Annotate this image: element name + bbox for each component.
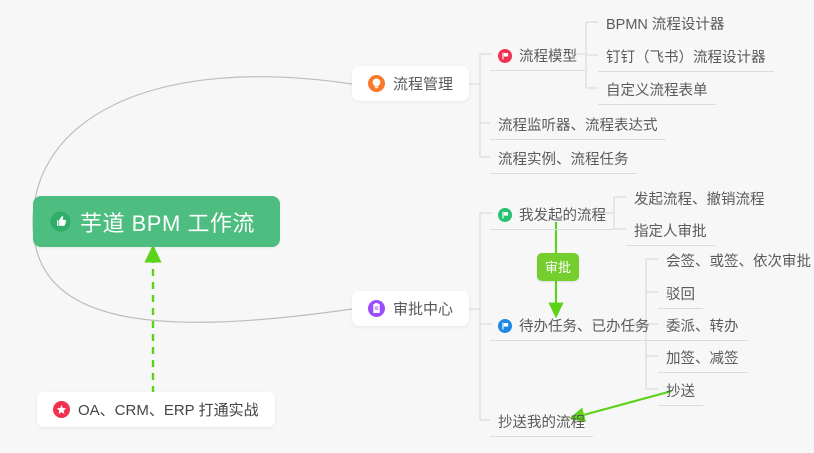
- node-todo-done-tasks[interactable]: 待办任务、已办任务: [490, 313, 658, 341]
- mindmap-canvas: 芋道 BPM 工作流 流程管理 流程模型 BPMN 流程设计器 钉钉（飞书）流程…: [0, 0, 814, 453]
- node-liuchengmoxing[interactable]: 流程模型: [490, 43, 585, 71]
- node-label: 我发起的流程: [519, 204, 606, 225]
- node-label: 流程监听器、流程表达式: [498, 114, 658, 135]
- flag-icon: [498, 319, 512, 333]
- node-label: 委派、转办: [666, 315, 739, 336]
- node-assignee-approval[interactable]: 指定人审批: [626, 218, 715, 246]
- root-node[interactable]: 芋道 BPM 工作流: [33, 196, 280, 247]
- node-label: 抄送: [666, 380, 695, 401]
- flag-icon: [498, 208, 512, 222]
- branch-label: 流程管理: [393, 73, 453, 94]
- branch-label: 审批中心: [393, 298, 453, 319]
- callout-label: OA、CRM、ERP 打通实战: [78, 399, 259, 420]
- branch-node-shenpizhongxin[interactable]: 审批中心: [352, 291, 469, 326]
- clipboard-icon: [368, 300, 385, 317]
- node-bpmn-designer[interactable]: BPMN 流程设计器: [598, 11, 732, 38]
- node-label: 指定人审批: [634, 220, 707, 241]
- node-label: 发起流程、撤销流程: [634, 188, 765, 209]
- node-instance-task[interactable]: 流程实例、流程任务: [490, 146, 637, 174]
- node-label: 流程实例、流程任务: [498, 148, 629, 169]
- node-dingding-designer[interactable]: 钉钉（飞书）流程设计器: [598, 44, 774, 72]
- callout-node-oa-crm-erp[interactable]: OA、CRM、ERP 打通实战: [37, 392, 275, 427]
- node-custom-form[interactable]: 自定义流程表单: [598, 77, 716, 105]
- node-label: 驳回: [666, 283, 695, 304]
- thumbs-up-icon: [50, 211, 71, 232]
- branch-node-liuchengguanli[interactable]: 流程管理: [352, 66, 469, 101]
- node-label: 会签、或签、依次审批: [666, 250, 811, 271]
- node-my-started-processes[interactable]: 我发起的流程: [490, 202, 614, 230]
- star-icon: [53, 401, 70, 418]
- node-label: 流程模型: [519, 45, 577, 66]
- root-label: 芋道 BPM 工作流: [80, 206, 255, 238]
- node-label: 加签、减签: [666, 347, 739, 368]
- node-reject[interactable]: 驳回: [658, 281, 703, 309]
- node-label: 自定义流程表单: [606, 79, 708, 100]
- flow-label-text: 审批: [545, 260, 571, 275]
- flow-label-shenpi: 审批: [537, 253, 579, 281]
- node-cc[interactable]: 抄送: [658, 378, 703, 406]
- node-cc-to-me-processes[interactable]: 抄送我的流程: [490, 409, 593, 437]
- node-label: 钉钉（飞书）流程设计器: [606, 46, 766, 67]
- node-countersign-modes[interactable]: 会签、或签、依次审批: [658, 248, 814, 275]
- node-label: 待办任务、已办任务: [519, 315, 650, 336]
- node-label: BPMN 流程设计器: [606, 13, 724, 34]
- node-listener-expression[interactable]: 流程监听器、流程表达式: [490, 112, 666, 140]
- node-start-cancel-process[interactable]: 发起流程、撤销流程: [626, 186, 773, 213]
- node-label: 抄送我的流程: [498, 411, 585, 432]
- node-add-remove-sign[interactable]: 加签、减签: [658, 345, 747, 373]
- node-delegate-transfer[interactable]: 委派、转办: [658, 313, 747, 341]
- lightbulb-icon: [368, 75, 385, 92]
- flag-icon: [498, 49, 512, 63]
